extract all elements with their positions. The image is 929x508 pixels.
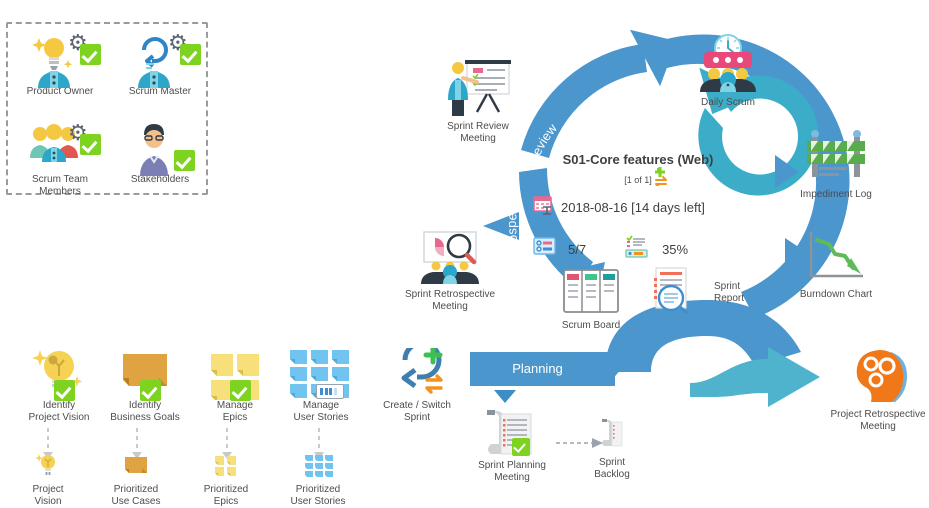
sprint-report-label-1: Sprint xyxy=(714,281,744,293)
node-label-1: Sprint Review xyxy=(432,121,524,133)
progress-report-icon xyxy=(624,235,650,264)
node-label-1: Project Retrospective xyxy=(822,409,929,421)
node-label-1: Burndown Chart xyxy=(786,289,886,301)
user-story-cards-icon xyxy=(272,346,370,400)
lightbulb-icon xyxy=(10,348,108,400)
create-switch-sprint-icon xyxy=(364,348,470,400)
sticky-notes-icon xyxy=(186,348,284,400)
impediment-log-node[interactable]: Impediment Log xyxy=(781,128,891,201)
artifact-label-1: Prioritized xyxy=(188,484,264,496)
burndown-chart-icon xyxy=(786,228,886,289)
artifact-prioritized-user-stories[interactable]: Prioritized User Stories xyxy=(280,452,356,508)
check-badge xyxy=(80,134,101,155)
sprint-title[interactable]: S01-Core features (Web) xyxy=(528,152,748,167)
add-switch-sprint-icon[interactable] xyxy=(653,166,675,191)
prioritized-use-cases-icon xyxy=(98,452,174,478)
artifact-label-2: Epics xyxy=(188,496,264,508)
artifact-prioritized-epics[interactable]: Prioritized Epics xyxy=(188,452,264,508)
activity-label-2: Epics xyxy=(186,412,284,424)
project-retrospective-meeting-node[interactable]: Project Retrospective Meeting xyxy=(822,348,929,433)
artifact-label-1: Prioritized xyxy=(98,484,174,496)
sprint-report-icon xyxy=(648,266,694,319)
node-label-1: Sprint xyxy=(580,457,644,469)
activity-create-switch-sprint[interactable]: Create / Switch Sprint xyxy=(364,348,470,424)
role-label-2: Members xyxy=(12,186,108,198)
node-label-1: Sprint Retrospective xyxy=(390,289,510,301)
activity-label-2: Project Vision xyxy=(10,412,108,424)
connector-line xyxy=(226,428,228,454)
activity-label-2: User Stories xyxy=(272,412,370,424)
node-label-1: Sprint Planning xyxy=(466,460,558,472)
node-label-2: Meeting xyxy=(466,472,558,484)
sprint-backlog-icon xyxy=(580,418,644,457)
planning-banner-notch xyxy=(607,352,621,386)
activity-identify-project-vision[interactable]: Identify Project Vision xyxy=(10,348,108,424)
activity-label-1: Identify xyxy=(96,400,194,412)
activity-label-1: Manage xyxy=(186,400,284,412)
connector-line xyxy=(47,428,49,454)
burndown-chart-node[interactable]: Burndown Chart xyxy=(786,228,886,301)
progress-badge xyxy=(316,384,344,399)
role-product-owner[interactable]: ⚙ Product Owner xyxy=(12,30,108,98)
daily-scrum-node[interactable]: Daily Scrum xyxy=(676,32,780,109)
folder-icon xyxy=(96,348,194,400)
activity-label-1: Create / Switch xyxy=(364,400,470,412)
activity-label-2: Business Goals xyxy=(96,412,194,424)
check-badge xyxy=(140,380,161,401)
activity-manage-epics[interactable]: Manage Epics xyxy=(186,348,284,424)
check-badge xyxy=(174,150,195,171)
sprint-retrospective-meeting-icon xyxy=(390,230,510,289)
sprint-review-meeting-node[interactable]: Sprint Review Meeting xyxy=(432,58,524,145)
sprint-planning-meeting-icon xyxy=(466,408,558,460)
sprint-planning-meeting-node[interactable]: Sprint Planning Meeting xyxy=(466,408,558,484)
role-stakeholders[interactable]: Stakeholders xyxy=(112,118,208,186)
sprint-report-label-2: Report xyxy=(714,293,744,305)
sprint-info-panel: S01-Core features (Web) [1 of 1] xyxy=(528,152,748,264)
check-badge xyxy=(230,380,251,401)
sprint-backlog-node[interactable]: Sprint Backlog xyxy=(580,418,644,481)
task-list-icon xyxy=(532,236,558,263)
sprint-progress-percent: 35% xyxy=(662,242,688,257)
artifact-project-vision[interactable]: Project Vision xyxy=(10,452,86,508)
activity-identify-business-goals[interactable]: Identify Business Goals xyxy=(96,348,194,424)
check-badge xyxy=(80,44,101,65)
node-label-1: Daily Scrum xyxy=(676,97,780,109)
node-label-1: Impediment Log xyxy=(781,189,891,201)
activity-label-2: Sprint xyxy=(364,412,470,424)
connector-line xyxy=(318,428,320,454)
prioritized-user-stories-icon xyxy=(280,452,356,478)
check-badge xyxy=(180,44,201,65)
artifact-label-2: User Stories xyxy=(280,496,356,508)
calendar-icon xyxy=(532,194,554,221)
connector-line xyxy=(136,428,138,454)
project-vision-icon xyxy=(10,452,86,478)
activity-label-1: Manage xyxy=(272,400,370,412)
artifact-label-1: Prioritized xyxy=(280,484,356,496)
role-scrum-team-members[interactable]: ⚙ Scrum Team Members xyxy=(12,118,108,198)
planning-banner-label: Planning xyxy=(470,352,615,386)
sprint-report-node[interactable]: Sprint Report xyxy=(634,266,744,319)
impediment-log-icon xyxy=(781,128,891,189)
activity-label-1: Identify xyxy=(10,400,108,412)
scrum-board-node[interactable]: Scrum Board xyxy=(551,268,631,332)
sprint-date: 2018-08-16 [14 days left] xyxy=(561,200,705,215)
node-label-2: Meeting xyxy=(432,133,524,145)
artifact-label-2: Use Cases xyxy=(98,496,174,508)
project-retrospective-meeting-icon xyxy=(822,348,929,409)
sprint-counter: [1 of 1] xyxy=(624,175,652,185)
node-label-2: Meeting xyxy=(390,301,510,313)
node-label-2: Backlog xyxy=(580,469,644,481)
check-badge xyxy=(54,380,75,401)
sprint-review-meeting-icon xyxy=(432,58,524,121)
check-badge xyxy=(512,438,530,456)
scrum-board-label: Scrum Board xyxy=(551,320,631,332)
artifact-label-2: Vision xyxy=(10,496,86,508)
sprint-tasks-ratio: 5/7 xyxy=(568,242,586,257)
sprint-retrospective-meeting-node[interactable]: Sprint Retrospective Meeting xyxy=(390,230,510,313)
node-label-2: Meeting xyxy=(822,421,929,433)
role-scrum-master[interactable]: ⚙ Scrum Master xyxy=(112,30,208,98)
activity-manage-user-stories[interactable]: Manage User Stories xyxy=(272,346,370,424)
planning-down-arrow xyxy=(494,390,516,403)
sprint-metrics-row: 5/7 35% xyxy=(528,235,748,264)
scrum-board-icon xyxy=(551,268,631,319)
prioritized-epics-icon xyxy=(188,452,264,478)
artifact-prioritized-use-cases[interactable]: Prioritized Use Cases xyxy=(98,452,174,508)
sprint-date-row: 2018-08-16 [14 days left] xyxy=(528,194,748,221)
artifact-label-1: Project xyxy=(10,484,86,496)
daily-scrum-icon xyxy=(676,32,780,97)
planning-banner[interactable]: Planning xyxy=(470,352,615,386)
